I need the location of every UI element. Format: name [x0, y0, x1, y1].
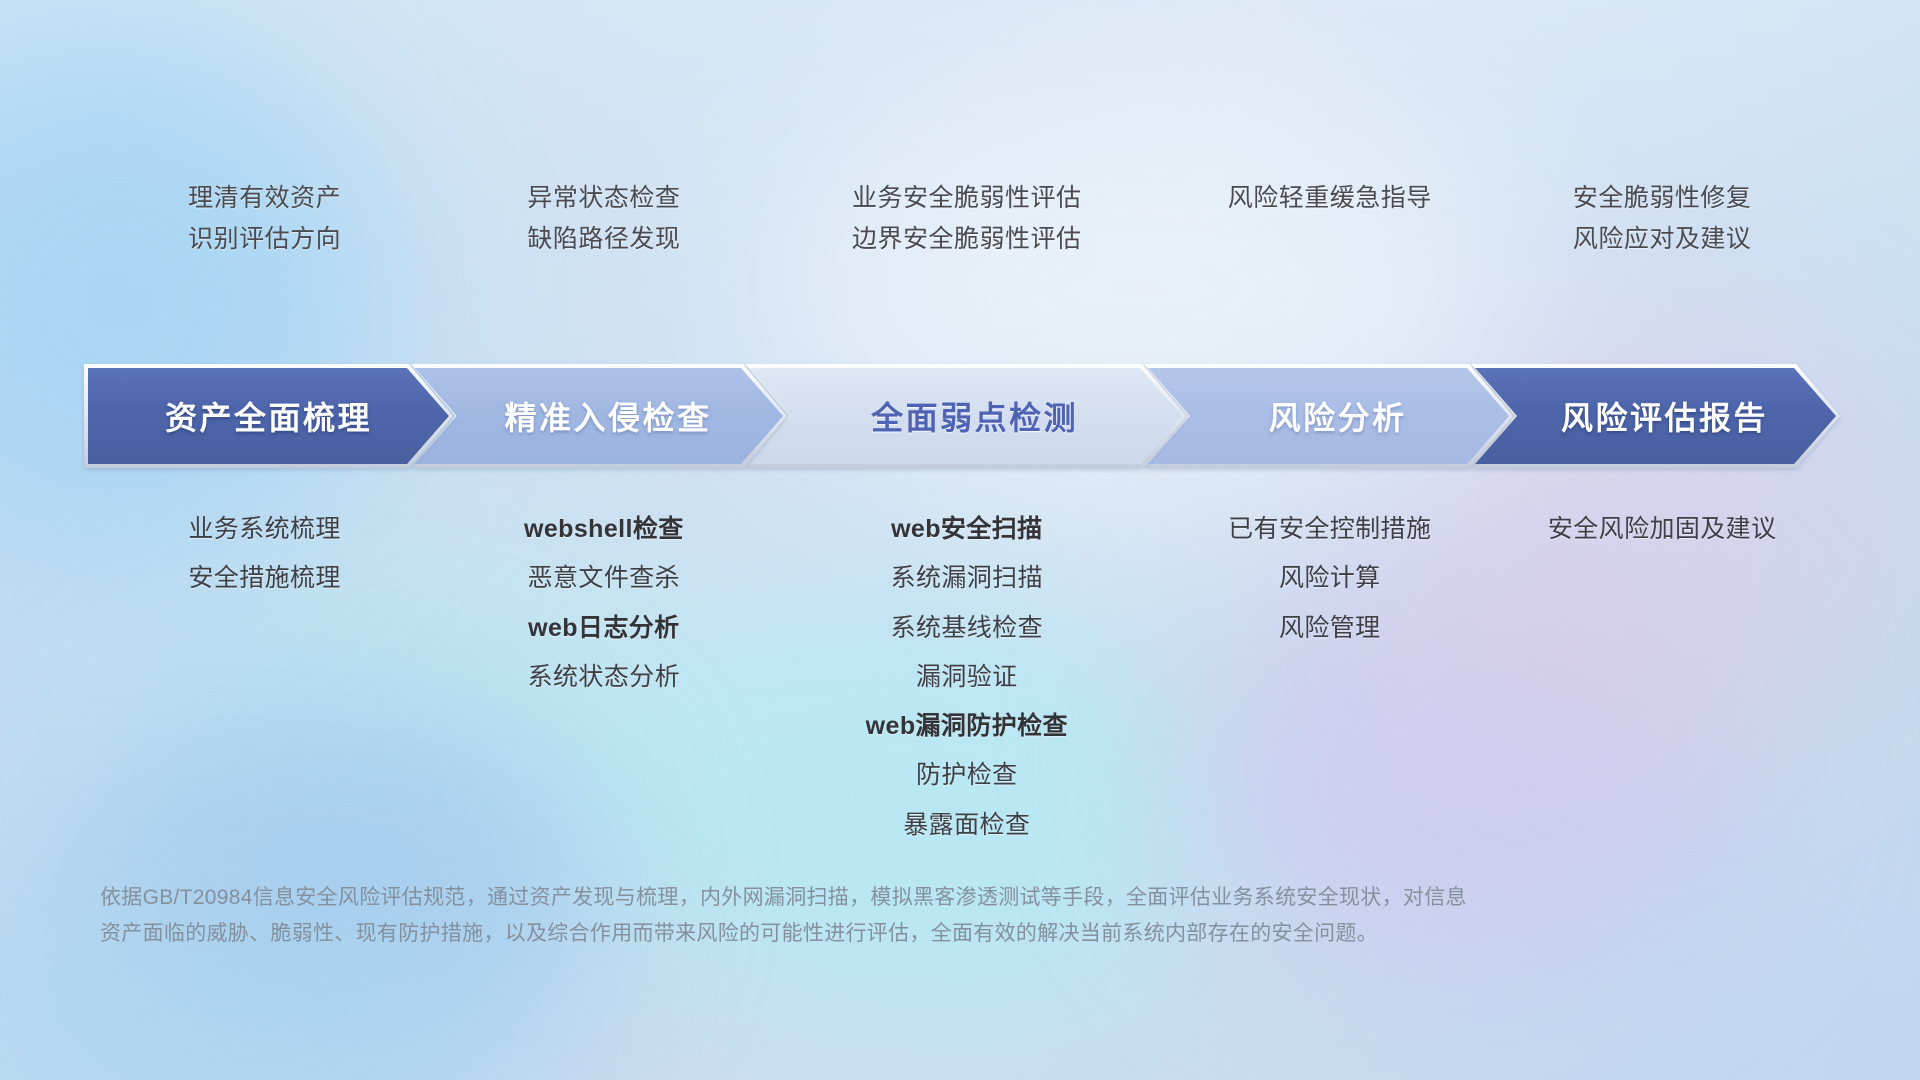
list-item: web日志分析	[434, 604, 773, 653]
process-stage-band: 资产全面梳理 精准入侵检查 全面弱点检测 风险分析 风险评估报告	[88, 368, 1836, 464]
list-item: web漏洞防护检查	[773, 702, 1160, 751]
top-captions-risk-analysis: 风险轻重缓急指导	[1160, 178, 1499, 259]
list-item: 系统漏洞扫描	[773, 554, 1160, 603]
top-captions-weakness-detection: 业务安全脆弱性评估 边界安全脆弱性评估	[773, 178, 1160, 259]
list-item: web安全扫描	[773, 505, 1160, 554]
detail-list-risk-analysis: 已有安全控制措施 风险计算 风险管理	[1160, 505, 1499, 850]
stage-label: 资产全面梳理	[165, 393, 372, 439]
detail-list-intrusion-check: webshell检查 恶意文件查杀 web日志分析 系统状态分析	[434, 505, 773, 850]
top-captions-intrusion-check: 异常状态检查 缺陷路径发现	[434, 178, 773, 259]
stage-label: 精准入侵检查	[486, 393, 711, 439]
footer-line: 资产面临的威胁、脆弱性、现有防护措施，以及综合作用而带来风险的可能性进行评估，全…	[100, 916, 1660, 952]
list-item: webshell检查	[434, 505, 773, 554]
top-captions-risk-report: 安全脆弱性修复 风险应对及建议	[1499, 178, 1825, 259]
stage-label: 全面弱点检测	[853, 393, 1078, 439]
list-item: 防护检查	[773, 751, 1160, 800]
top-caption-item: 缺陷路径发现	[434, 219, 773, 260]
top-caption-item: 识别评估方向	[95, 219, 434, 260]
list-item: 风险计算	[1160, 554, 1499, 603]
list-item: 暴露面检查	[773, 801, 1160, 850]
stage-label: 风险分析	[1251, 393, 1407, 439]
top-caption-item: 风险应对及建议	[1499, 219, 1825, 260]
list-item: 系统状态分析	[434, 653, 773, 702]
stage-chevron-risk-analysis[interactable]: 风险分析	[1148, 368, 1509, 464]
footer-line: 依据GB/T20984信息安全风险评估规范，通过资产发现与梳理，内外网漏洞扫描，…	[100, 880, 1660, 916]
stage-chevron-intrusion-check[interactable]: 精准入侵检查	[415, 368, 783, 464]
list-item: 安全风险加固及建议	[1499, 505, 1825, 554]
top-caption-item: 业务安全脆弱性评估	[773, 178, 1160, 219]
detail-list-risk-report: 安全风险加固及建议	[1499, 505, 1825, 850]
detail-list-asset-inventory: 业务系统梳理 安全措施梳理	[95, 505, 434, 850]
top-caption-item: 安全脆弱性修复	[1499, 178, 1825, 219]
list-item: 业务系统梳理	[95, 505, 434, 554]
top-caption-item: 异常状态检查	[434, 178, 773, 219]
stage-chevron-risk-report[interactable]: 风险评估报告	[1475, 368, 1836, 464]
stage-label: 风险评估报告	[1543, 393, 1768, 439]
list-item: 漏洞验证	[773, 653, 1160, 702]
top-caption-item: 边界安全脆弱性评估	[773, 219, 1160, 260]
list-item: 系统基线检查	[773, 604, 1160, 653]
list-item: 安全措施梳理	[95, 554, 434, 603]
detail-list-weakness-detection: web安全扫描 系统漏洞扫描 系统基线检查 漏洞验证 web漏洞防护检查 防护检…	[773, 505, 1160, 850]
top-caption-item: 理清有效资产	[95, 178, 434, 219]
top-caption-item: 风险轻重缓急指导	[1160, 178, 1499, 219]
top-captions-row: 理清有效资产 识别评估方向 异常状态检查 缺陷路径发现 业务安全脆弱性评估 边界…	[95, 178, 1825, 259]
bottom-details-row: 业务系统梳理 安全措施梳理 webshell检查 恶意文件查杀 web日志分析 …	[95, 505, 1825, 850]
top-captions-asset-inventory: 理清有效资产 识别评估方向	[95, 178, 434, 259]
footer-note: 依据GB/T20984信息安全风险评估规范，通过资产发现与梳理，内外网漏洞扫描，…	[100, 880, 1660, 952]
list-item: 已有安全控制措施	[1160, 505, 1499, 554]
list-item: 恶意文件查杀	[434, 554, 773, 603]
process-diagram: 理清有效资产 识别评估方向 异常状态检查 缺陷路径发现 业务安全脆弱性评估 边界…	[0, 0, 1920, 1080]
stage-chevron-weakness-detection[interactable]: 全面弱点检测	[749, 368, 1182, 464]
list-item: 风险管理	[1160, 604, 1499, 653]
stage-chevron-asset-inventory[interactable]: 资产全面梳理	[88, 368, 449, 464]
